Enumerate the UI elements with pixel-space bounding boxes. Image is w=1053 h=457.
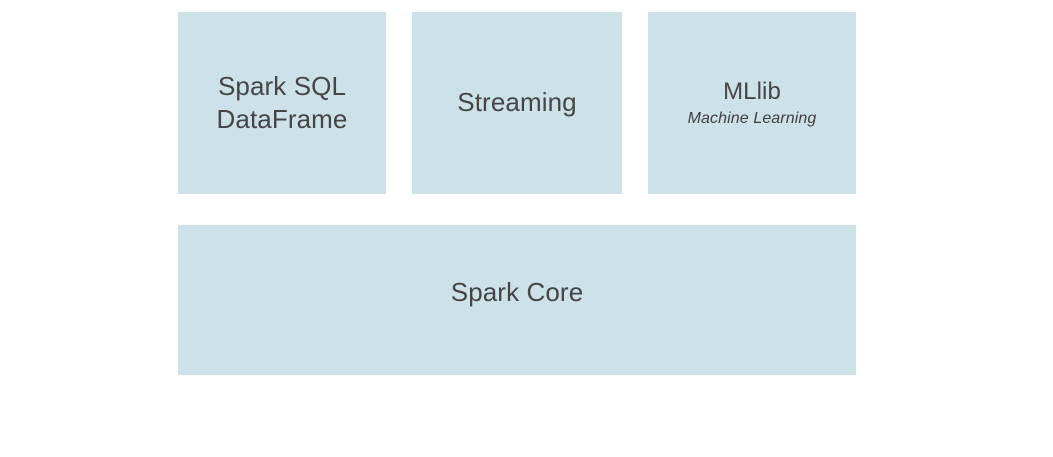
- box-label-line1: Spark Core: [178, 276, 856, 309]
- box-label-line2: DataFrame: [178, 103, 386, 136]
- box-label-subtitle: Machine Learning: [648, 109, 856, 129]
- box-label-line1: Spark SQL: [178, 70, 386, 103]
- box-label-line1: MLlib: [648, 77, 856, 108]
- box-label-group: MLlib Machine Learning: [648, 77, 856, 129]
- diagram-canvas: Spark SQL DataFrame Streaming MLlib Mach…: [0, 0, 1053, 457]
- box-label-line1: Streaming: [412, 86, 622, 119]
- box-label-group: Spark Core: [178, 276, 856, 309]
- box-label-group: Streaming: [412, 86, 622, 119]
- diagram-box-streaming[interactable]: Streaming: [412, 12, 622, 194]
- diagram-box-mllib[interactable]: MLlib Machine Learning: [648, 12, 856, 194]
- diagram-box-spark-core[interactable]: Spark Core: [178, 225, 856, 375]
- diagram-box-spark-sql[interactable]: Spark SQL DataFrame: [178, 12, 386, 194]
- box-label-group: Spark SQL DataFrame: [178, 70, 386, 137]
